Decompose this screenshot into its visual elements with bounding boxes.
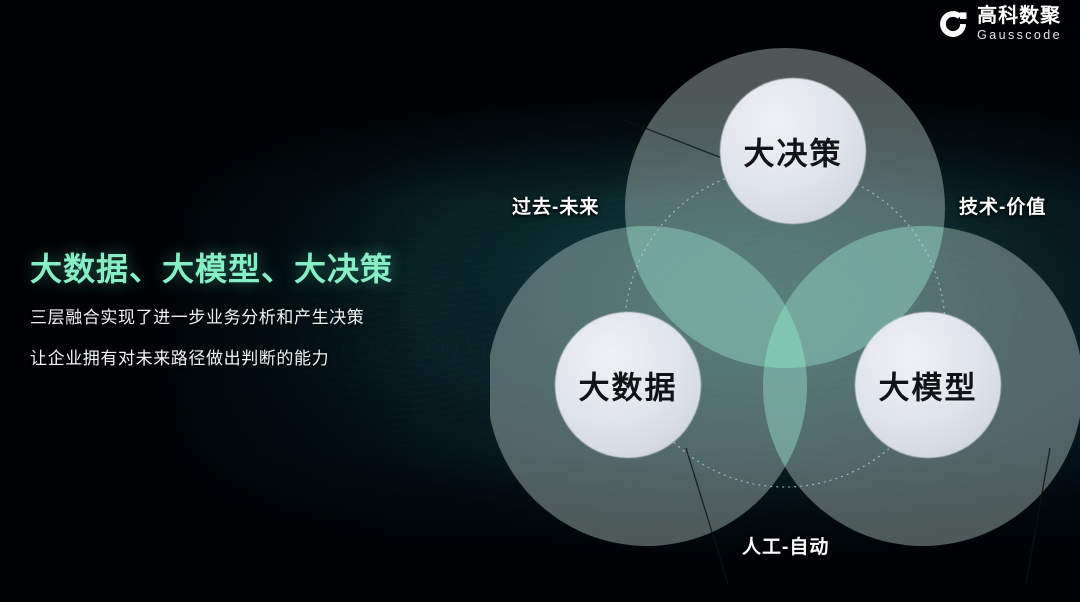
copy-block: 大数据、大模型、大决策 三层融合实现了进一步业务分析和产生决策 让企业拥有对未来… (30, 250, 460, 372)
page-title: 大数据、大模型、大决策 (30, 250, 460, 288)
slide-root: 高科数聚 Gausscode 大数据、大模型、大决策 三层融合实现了进一步业务分… (0, 0, 1080, 602)
axis-label-manual-auto: 人工-自动 (742, 532, 829, 559)
subtitle-line-2: 让企业拥有对未来路径做出判断的能力 (30, 346, 460, 372)
subtitle-line-1: 三层融合实现了进一步业务分析和产生决策 (30, 305, 460, 331)
circle-title-model: 大模型 (879, 363, 978, 408)
axis-label-past-future: 过去-未来 (512, 192, 599, 219)
circle-title-bigdata: 大数据 (579, 363, 678, 408)
venn-svg (490, 18, 1080, 602)
venn-diagram: 业务场景 人工智能 知识图谱 (490, 18, 1080, 602)
circle-title-decision: 大决策 (744, 129, 843, 174)
axis-label-tech-value: 技术-价值 (959, 192, 1046, 219)
